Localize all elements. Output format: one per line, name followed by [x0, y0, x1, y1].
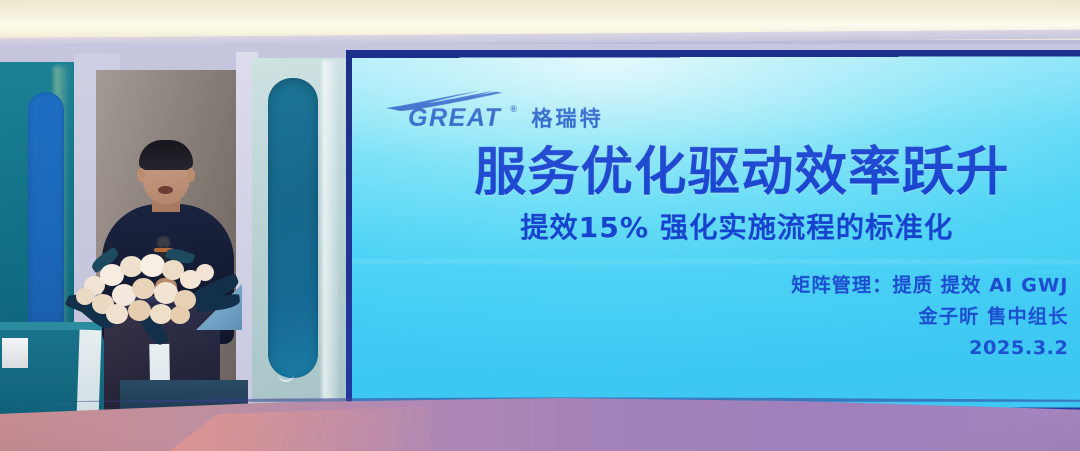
podium-ribbon-left [76, 330, 101, 423]
flower-bloom [196, 264, 214, 281]
flower-bloom [170, 306, 190, 324]
logo-registered-icon: ® [510, 104, 517, 114]
backdrop-light-strip [322, 60, 338, 400]
logo-wordmark: GREAT [408, 106, 501, 131]
slide-subtitle: 提效15% 强化实施流程的标准化 [520, 206, 953, 246]
flower-bloom [76, 288, 94, 305]
slide-meta-line-2: 金子昕 售中组长 [791, 301, 1068, 332]
speaker-ear-right [187, 168, 195, 182]
brand-logo: GREAT ® 格瑞特 [382, 90, 604, 136]
speaker-ear-left [137, 168, 145, 182]
speaker-hair [139, 140, 193, 170]
led-screen: GREAT ® 格瑞特 服务优化驱动效率跃升 提效15% 强化实施流程的标准化 … [352, 56, 1080, 407]
flower-bloom [128, 300, 151, 321]
photo-scene: GREAT ® 格瑞特 服务优化驱动效率跃升 提效15% 强化实施流程的标准化 … [0, 0, 1080, 451]
slide-meta-date: 2025.3.2 [791, 332, 1068, 363]
screen-scanline [352, 260, 1080, 263]
flower-bloom [150, 304, 172, 324]
slide-meta-block: 矩阵管理：提质 提效 AI GWJ 金子昕 售中组长 2025.3.2 [791, 270, 1068, 363]
slide-meta-line-1: 矩阵管理：提质 提效 AI GWJ [791, 270, 1068, 301]
speaker-mouth [158, 186, 173, 194]
flower-bloom [140, 254, 165, 277]
backdrop-inset-blue-right [268, 78, 318, 378]
floral-arrangement [70, 246, 242, 338]
flower-bloom [106, 304, 128, 324]
slide-title: 服务优化驱动效率跃升 [474, 145, 1080, 200]
white-placard [2, 338, 28, 368]
logo-mark: GREAT ® [382, 90, 542, 136]
flower-bloom [132, 278, 155, 299]
